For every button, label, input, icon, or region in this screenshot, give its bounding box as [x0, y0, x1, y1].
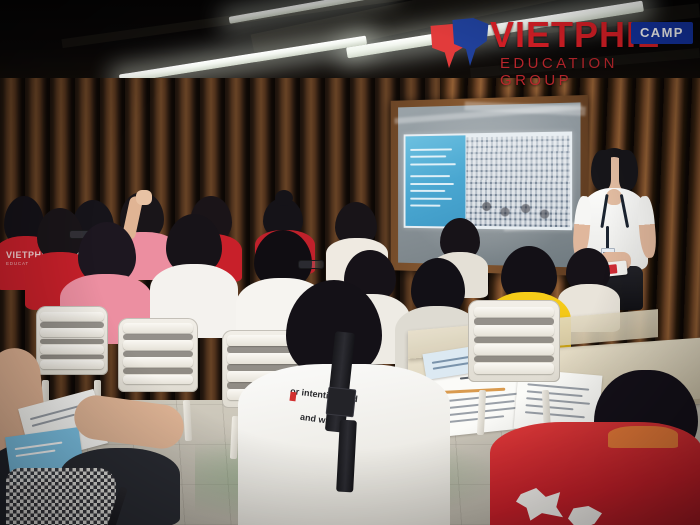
slide	[404, 131, 572, 230]
slide-photo	[467, 136, 570, 228]
vietphil-camp-logo: VIETPHIL CAMP EDUCATION GROUP	[428, 14, 694, 82]
screen-surface	[398, 102, 580, 267]
glasses-icon	[298, 260, 324, 269]
logo-tagline: EDUCATION GROUP	[500, 55, 694, 89]
logo-camp-badge: CAMP	[631, 22, 693, 44]
strap-buckle	[326, 387, 357, 418]
pin-blue-icon	[450, 18, 490, 68]
logo-mark	[428, 18, 490, 72]
tshirt-print-accent	[289, 392, 296, 402]
student	[150, 214, 238, 334]
student-foreground-right	[490, 404, 700, 525]
classroom-photo: VIETPHIL EDUCATION GROUP	[0, 0, 700, 525]
presenter-hair	[619, 150, 638, 190]
slide-text-panel	[406, 135, 466, 226]
patterned-fabric	[6, 468, 116, 525]
raised-hand	[136, 190, 152, 205]
presenter-hair	[591, 150, 611, 190]
lanyard	[606, 226, 609, 250]
shirt-collar	[608, 426, 678, 448]
